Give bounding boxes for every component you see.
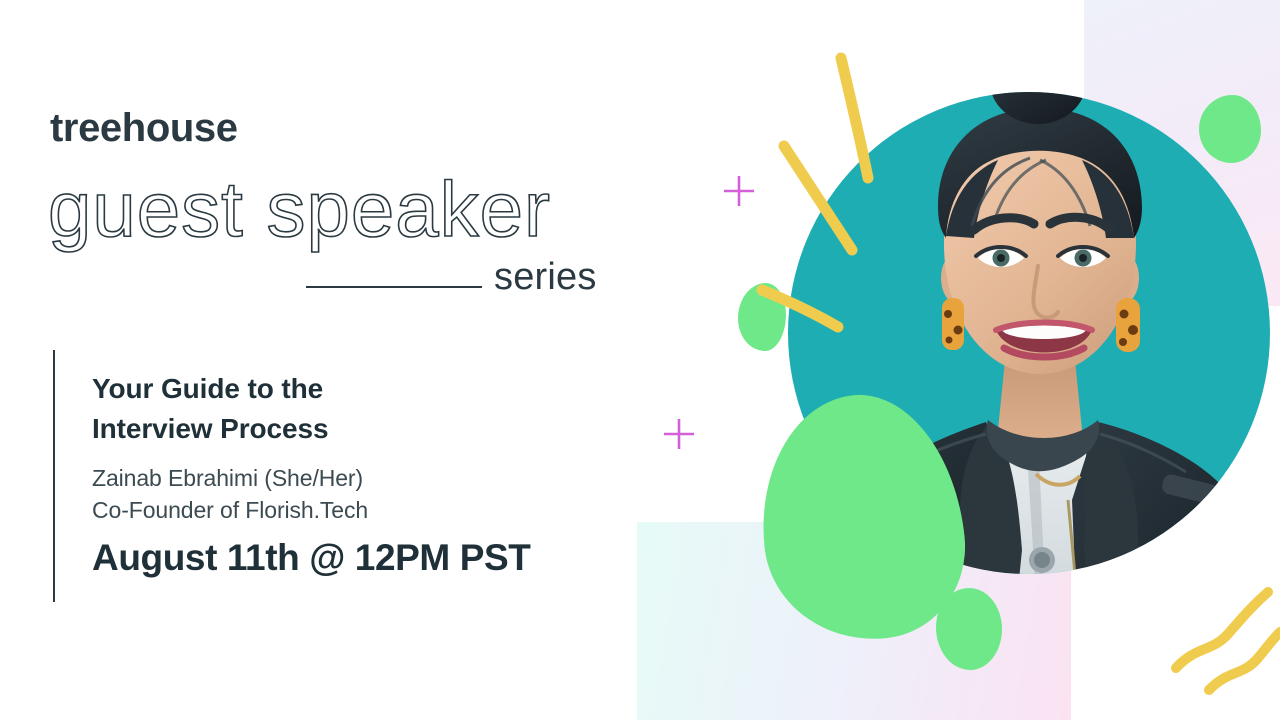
event-datetime: August 11th @ 12PM PST — [92, 536, 530, 580]
series-label: series — [494, 258, 597, 296]
speaker-name: Zainab Ebrahimi (She/Her) — [92, 462, 363, 495]
headline-outline: guest speaker — [44, 160, 664, 260]
green-blob-top-right — [1199, 95, 1261, 163]
guest-speaker-promo-slide: treehouse guest speaker series Your Guid… — [0, 0, 1280, 720]
talk-title: Your Guide to the Interview Process — [92, 369, 512, 449]
headline-text: guest speaker — [48, 165, 551, 253]
green-blob-pebble — [738, 283, 786, 351]
talk-title-line-1: Your Guide to the — [92, 369, 512, 409]
treehouse-wordmark: treehouse — [50, 108, 238, 148]
green-blob-bottom — [936, 588, 1002, 670]
event-block-vertical-rule — [53, 350, 55, 602]
series-divider-rule — [306, 286, 482, 288]
speaker-role: Co-Founder of Florish.Tech — [92, 494, 368, 527]
yellow-wave-strokes — [1176, 592, 1280, 690]
talk-title-line-2: Interview Process — [92, 409, 512, 449]
